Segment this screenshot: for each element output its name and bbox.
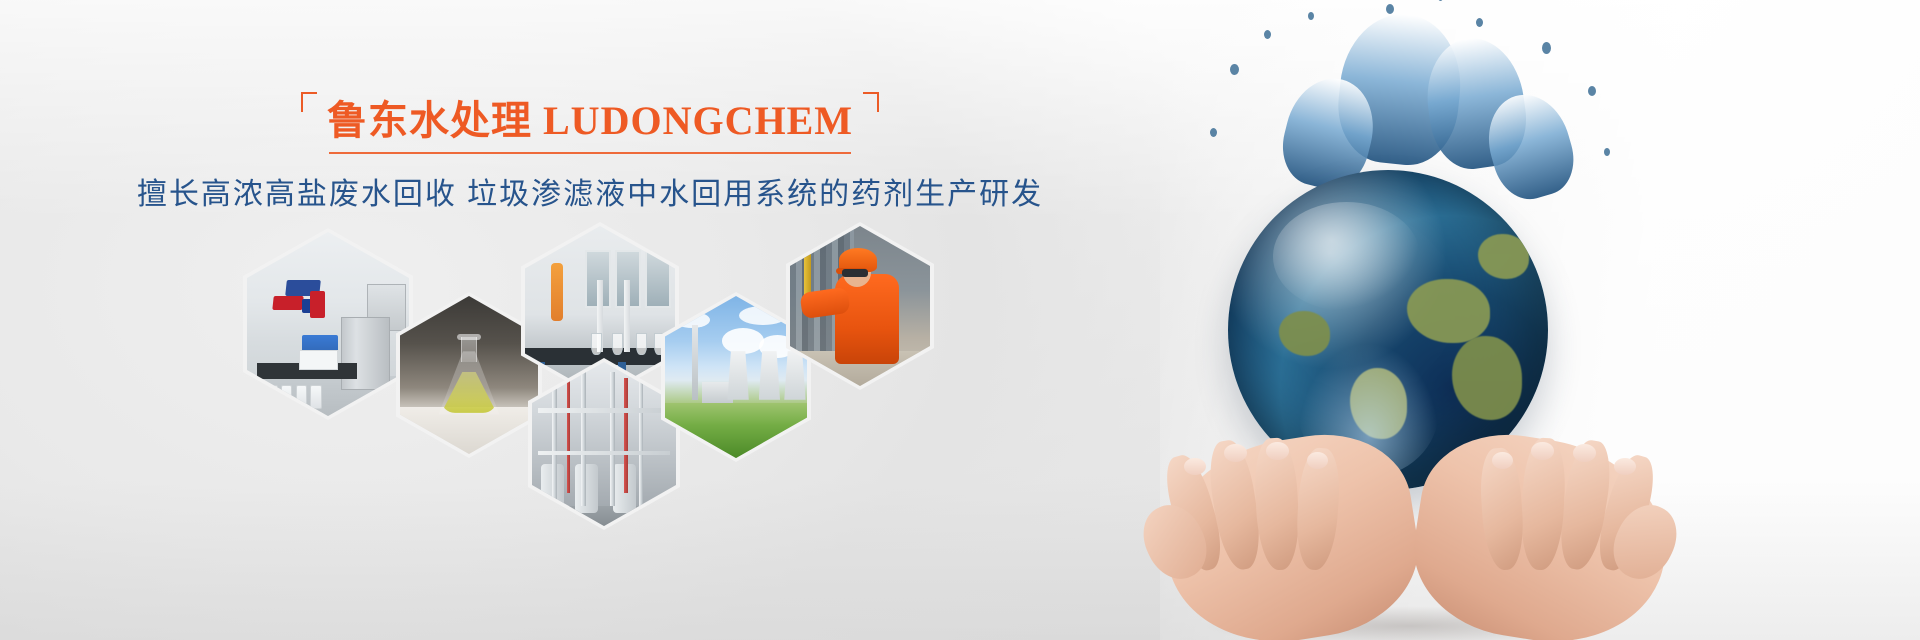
pipe-red-line-2	[624, 378, 628, 493]
right-nail-3	[1531, 442, 1554, 460]
hex-tile-laboratory-room[interactable]	[247, 232, 409, 416]
slogan-red-arrow	[272, 296, 303, 310]
hero-banner: 鲁东水处理 LUDONGCHEM 擅长高浓高盐废水回收 垃圾渗滤液中水回用系统的…	[0, 0, 1920, 640]
slogan-number-one	[310, 291, 325, 318]
right-nail-2	[1573, 444, 1596, 462]
pipe-column-4	[639, 372, 644, 506]
left-nail-4	[1307, 452, 1328, 469]
cooling-tower-1	[727, 351, 748, 400]
pipe-column-2	[581, 372, 586, 506]
chimney-stack	[692, 325, 698, 400]
cupped-hands	[1140, 400, 1680, 640]
landmass-4	[1279, 311, 1330, 356]
left-nail-2	[1224, 444, 1247, 462]
water-droplet-8	[1210, 128, 1217, 137]
flask-neck	[461, 337, 478, 362]
pipe-column-3	[610, 372, 615, 506]
water-droplet-3	[1308, 12, 1314, 20]
water-droplet-6	[1542, 42, 1551, 54]
wall-slogan-graphic	[270, 280, 345, 328]
lab2-rig-column-2	[624, 280, 630, 351]
water-droplet-2	[1264, 30, 1271, 39]
left-nail-1	[1184, 458, 1206, 475]
globe-highlight	[1273, 202, 1420, 311]
right-nail-1	[1614, 458, 1636, 475]
left-nail-3	[1266, 442, 1289, 460]
lab-white-module	[299, 350, 338, 370]
lab2-flask-3	[636, 333, 647, 355]
pipe-column-1	[552, 372, 557, 506]
pipe-rail-2	[538, 451, 671, 456]
operator-safety-goggles	[842, 269, 869, 277]
photo-laboratory-room	[247, 232, 409, 416]
hero-globe-scene	[1150, 0, 1670, 640]
landmass-5	[1478, 234, 1529, 279]
lab2-orange-figure	[551, 263, 563, 321]
pipe-floor	[532, 506, 676, 526]
water-droplet-4	[1386, 4, 1394, 14]
landmass-1	[1407, 279, 1490, 343]
hexagon-photo-cluster	[0, 0, 1000, 640]
pipe-tank-2	[575, 464, 598, 513]
tower-plume-1	[722, 328, 765, 354]
water-droplet-5	[1476, 18, 1483, 27]
right-nail-4	[1492, 452, 1513, 469]
flask-lip	[457, 334, 482, 340]
cooling-tower-2	[759, 351, 780, 400]
cooling-tower-3	[784, 351, 805, 400]
operator-coverall	[835, 274, 899, 364]
water-droplet-1	[1230, 64, 1239, 75]
water-droplet-9	[1604, 148, 1610, 156]
lab-drum-4	[310, 385, 321, 409]
water-droplet-10	[1438, 0, 1443, 1]
pipe-rail-1	[538, 408, 671, 413]
lab2-flask-1	[591, 333, 602, 355]
pipe-red-line-1	[567, 378, 571, 493]
water-droplet-7	[1588, 86, 1596, 96]
lab2-flask-2	[612, 333, 623, 355]
